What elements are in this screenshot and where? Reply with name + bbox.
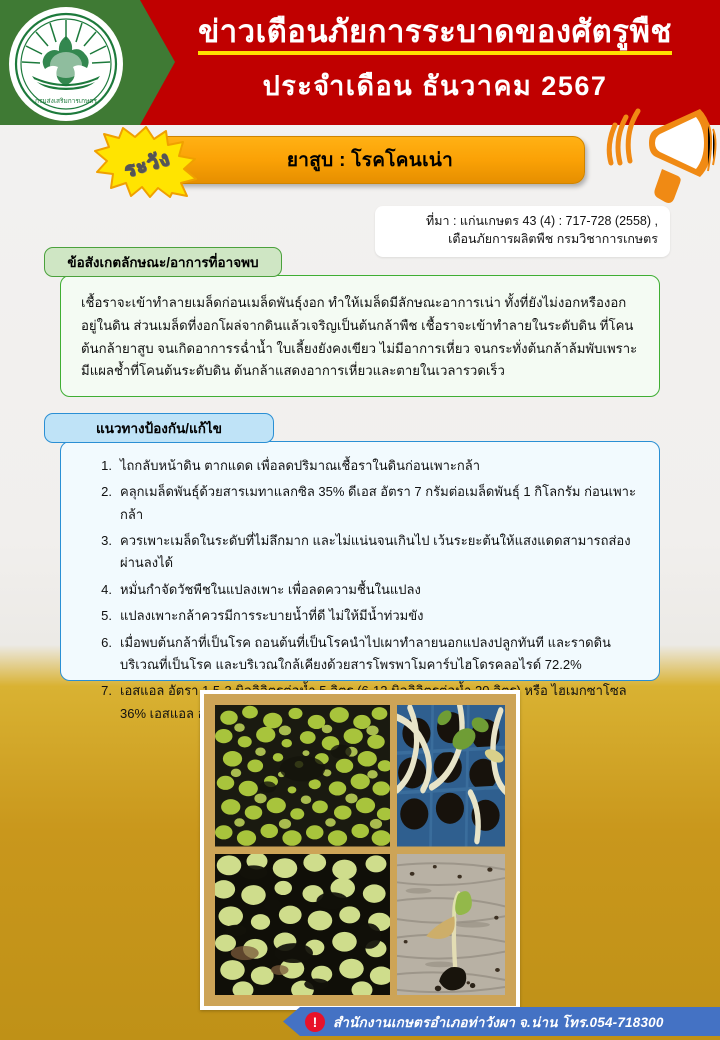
svg-text:กรมส่งเสริมการเกษตร: กรมส่งเสริมการเกษตร — [35, 97, 98, 105]
disease-title-text: ยาสูบ : โรคโคนเน่า — [287, 145, 453, 175]
photo-single-wilted-seedling-on-wood — [397, 854, 505, 996]
photo-seedling-tray-overhead-pale-green-patchy — [215, 854, 390, 996]
list-item: ควรเพาะเมล็ดในระดับที่ไม่ลึกมาก และไม่แน… — [79, 530, 641, 575]
symptoms-tab-label: ข้อสังเกตลักษณะ/อาการที่อาจพบ — [67, 251, 258, 273]
photo-seedling-tray-overhead-green-diseased — [215, 705, 390, 847]
prevention-list: ไถกลับหน้าดิน ตากแดด เพื่อลดปริมาณเชื้อร… — [79, 455, 641, 725]
alert-exclamation-icon: ! — [305, 1012, 325, 1032]
source-line-1: ที่มา : แก่นเกษตร 43 (4) : 717-728 (2558… — [385, 213, 658, 231]
header-title: ข่าวเตือนภัยการระบาดของศัตรูพืช — [198, 14, 672, 55]
department-of-agricultural-extension-seal: กรมส่งเสริมการเกษตร — [9, 7, 123, 121]
symptoms-section-tab: ข้อสังเกตลักษณะ/อาการที่อาจพบ — [44, 247, 282, 277]
source-line-2: เตือนภัยการผลิตพืช กรมวิชาการเกษตร — [385, 231, 658, 249]
poster-root: กรมส่งเสริมการเกษตร ข่าวเตือนภัยการระบาด… — [0, 0, 720, 1040]
prevention-section-tab: แนวทางป้องกัน/แก้ไข — [44, 413, 274, 443]
megaphone-icon — [604, 103, 720, 207]
source-citation: ที่มา : แก่นเกษตร 43 (4) : 717-728 (2558… — [375, 206, 670, 257]
symptoms-body-text: เชื้อราจะเข้าทำลายเมล็ดก่อนเมล็ดพันธุ์งอ… — [81, 292, 639, 383]
prevention-section-box: ไถกลับหน้าดิน ตากแดด เพื่อลดปริมาณเชื้อร… — [60, 441, 660, 681]
list-item: คลุกเมล็ดพันธุ์ด้วยสารเมทาแลกซิล 35% ดีเ… — [79, 481, 641, 526]
list-item: ไถกลับหน้าดิน ตากแดด เพื่อลดปริมาณเชื้อร… — [79, 455, 641, 477]
photo-grid — [204, 694, 516, 1006]
header-subtitle: ประจำเดือน ธันวาคม 2567 — [175, 64, 695, 107]
symptoms-section-box: เชื้อราจะเข้าทำลายเมล็ดก่อนเมล็ดพันธุ์งอ… — [60, 275, 660, 397]
photo-tobacco-seedlings-in-blue-tray-closeup — [397, 705, 505, 847]
list-item: แปลงเพาะกล้าควรมีการระบายน้ำที่ดี ไม่ให้… — [79, 605, 641, 627]
disease-title-bar: ยาสูบ : โรคโคนเน่า — [155, 136, 585, 184]
list-item: หมั่นกำจัดวัชพืชในแปลงเพาะ เพื่อลดความชื… — [79, 579, 641, 601]
prevention-tab-label: แนวทางป้องกัน/แก้ไข — [96, 417, 222, 439]
list-item: เมื่อพบต้นกล้าที่เป็นโรค ถอนต้นที่เป็นโร… — [79, 632, 641, 677]
header-title-wrap: ข่าวเตือนภัยการระบาดของศัตรูพืช ประจำเดื… — [175, 14, 695, 107]
photo-grid-frame — [200, 690, 520, 1010]
footer-banner: ! สำนักงานเกษตรอำเภอท่าวังผา จ.น่าน โทร.… — [283, 1007, 720, 1036]
footer-contact-text: สำนักงานเกษตรอำเภอท่าวังผา จ.น่าน โทร.05… — [333, 1011, 664, 1033]
